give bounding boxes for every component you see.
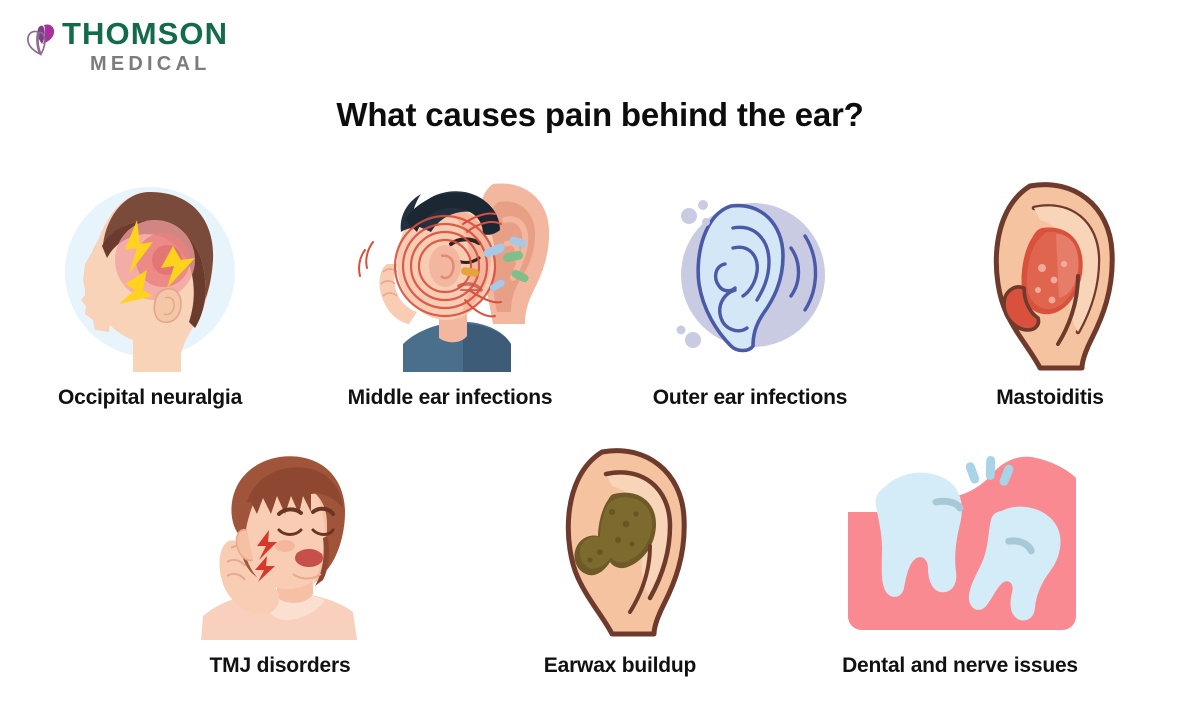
line-art-ear-with-sound-waves-illustration [653,172,848,372]
person-holding-head-with-ear-bacteria-illustration [343,172,558,372]
cause-label: Mastoiditis [996,386,1103,410]
row2-left-spacer [0,440,110,678]
cause-item-occipital-neuralgia: Occipital neuralgia [0,172,300,410]
cause-label: Occipital neuralgia [58,386,242,410]
cause-label: Dental and nerve issues [842,654,1078,678]
brand-name-secondary: MEDICAL [90,54,228,74]
cause-item-outer-ear-infections: Outer ear infections [600,172,900,410]
cause-label: TMJ disorders [210,654,351,678]
cause-label: Earwax buildup [544,654,696,678]
causes-row-2: TMJ disorders [0,440,1200,678]
head-profile-with-lightning-bolts-illustration [55,172,245,372]
butterfly-heart-logo-icon [24,22,58,62]
brand-name-primary: THOMSON [62,18,228,49]
cause-item-dental-and-nerve-issues: Dental and nerve issues [790,440,1130,678]
causes-row-1: Occipital neuralgia [0,172,1200,410]
inflamed-red-ear-illustration [960,172,1140,372]
brand-wordmark: THOMSON MEDICAL [62,18,228,74]
cause-item-earwax-buildup: Earwax buildup [450,440,790,678]
cause-item-middle-ear-infections: Middle ear infections [300,172,600,410]
cause-item-tmj-disorders: TMJ disorders [110,440,450,678]
cause-item-mastoiditis: Mastoiditis [900,172,1200,410]
impacted-wisdom-tooth-illustration [840,440,1080,640]
brand-logo: THOMSON MEDICAL [24,18,228,74]
page-title: What causes pain behind the ear? [0,96,1200,134]
ear-with-earwax-illustration [540,440,700,640]
cause-label: Outer ear infections [653,386,847,410]
woman-holding-jaw-in-pain-illustration [185,440,375,640]
cause-label: Middle ear infections [348,386,553,410]
